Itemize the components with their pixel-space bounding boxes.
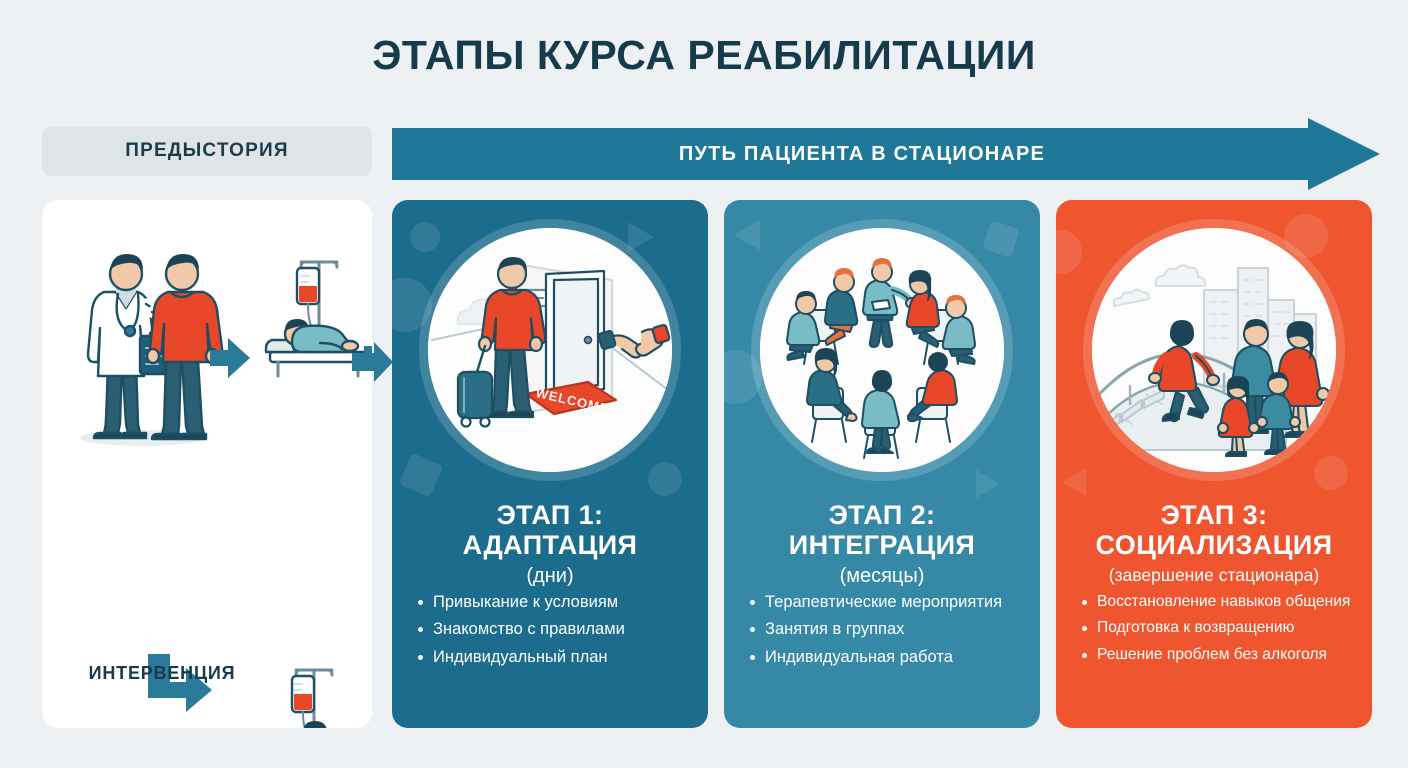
stage-1-title: ЭТАП 1: — [392, 500, 708, 530]
stage-3-title: ЭТАП 3: — [1056, 500, 1372, 530]
deco-circle — [392, 278, 432, 332]
deco-circle — [724, 350, 762, 404]
stage-1-duration: (дни) — [392, 565, 708, 588]
stage-3-duration: (завершение стационара) — [1056, 565, 1372, 585]
deco-triangle — [976, 470, 1000, 498]
stage-1-name: АДАПТАЦИЯ — [392, 530, 708, 560]
page-title: ЭТАПЫ КУРСА РЕАБИЛИТАЦИИ — [0, 32, 1408, 79]
deco-triangle — [1062, 468, 1086, 496]
list-item: Решение проблем без алкоголя — [1080, 645, 1358, 664]
stage-2-title: ЭТАП 2: — [724, 500, 1040, 530]
stage-3-illustration — [1092, 228, 1336, 472]
list-item: Индивидуальный план — [416, 647, 694, 667]
prehistory-card: ИНТЕРВЕНЦИЯ ДЕТОКСИКАЦИЯ — [42, 200, 372, 728]
deco-circle — [1056, 230, 1082, 274]
journey-label: ПУТЬ ПАЦИЕНТА В СТАЦИОНАРЕ — [392, 118, 1332, 190]
stage-2-heading: ЭТАП 2: ИНТЕГРАЦИЯ (месяцы) — [724, 500, 1040, 588]
prehistory-label: ПРЕДЫСТОРИЯ — [125, 140, 288, 162]
intervention-label: ИНТЕРВЕНЦИЯ — [52, 663, 272, 684]
list-item: Занятия в группах — [748, 619, 1026, 639]
stage-card-3[interactable]: ЭТАП 3: СОЦИАЛИЗАЦИЯ (завершение стацион… — [1056, 200, 1372, 728]
list-item: Восстановление навыков общения — [1080, 592, 1358, 611]
stage-2-name: ИНТЕГРАЦИЯ — [724, 530, 1040, 560]
stage-2-duration: (месяцы) — [724, 565, 1040, 588]
stage-card-1[interactable]: WELCOME — [392, 200, 708, 728]
list-item: Терапевтические мероприятия — [748, 592, 1026, 612]
stage-1-bullets: Привыкание к условиям Знакомство с прави… — [416, 592, 694, 674]
stage-3-bullets: Восстановление навыков общения Подготовк… — [1080, 592, 1358, 671]
journey-banner: ПУТЬ ПАЦИЕНТА В СТАЦИОНАРЕ — [392, 118, 1380, 190]
stage-3-name: СОЦИАЛИЗАЦИЯ — [1056, 530, 1372, 560]
stage-1-heading: ЭТАП 1: АДАПТАЦИЯ (дни) — [392, 500, 708, 588]
stage-2-illustration — [760, 228, 1004, 472]
stage-2-bullets: Терапевтические мероприятия Занятия в гр… — [748, 592, 1026, 674]
deco-triangle — [734, 220, 760, 250]
stage-3-heading: ЭТАП 3: СОЦИАЛИЗАЦИЯ (завершение стацион… — [1056, 500, 1372, 586]
stage-card-2[interactable]: ЭТАП 2: ИНТЕГРАЦИЯ (месяцы) Терапевтичес… — [724, 200, 1040, 728]
list-item: Подготовка к возвращению — [1080, 618, 1358, 637]
list-item: Привыкание к условиям — [416, 592, 694, 612]
prehistory-pill: ПРЕДЫСТОРИЯ — [42, 126, 372, 176]
list-item: Индивидуальная работа — [748, 647, 1026, 667]
stage-1-illustration: WELCOME — [428, 228, 672, 472]
list-item: Знакомство с правилами — [416, 619, 694, 639]
infographic-root: ЭТАПЫ КУРСА РЕАБИЛИТАЦИИ ПРЕДЫСТОРИЯ ПУТ… — [0, 0, 1408, 768]
prehistory-illustration — [42, 200, 372, 728]
connector-arrow-icon — [352, 340, 394, 384]
